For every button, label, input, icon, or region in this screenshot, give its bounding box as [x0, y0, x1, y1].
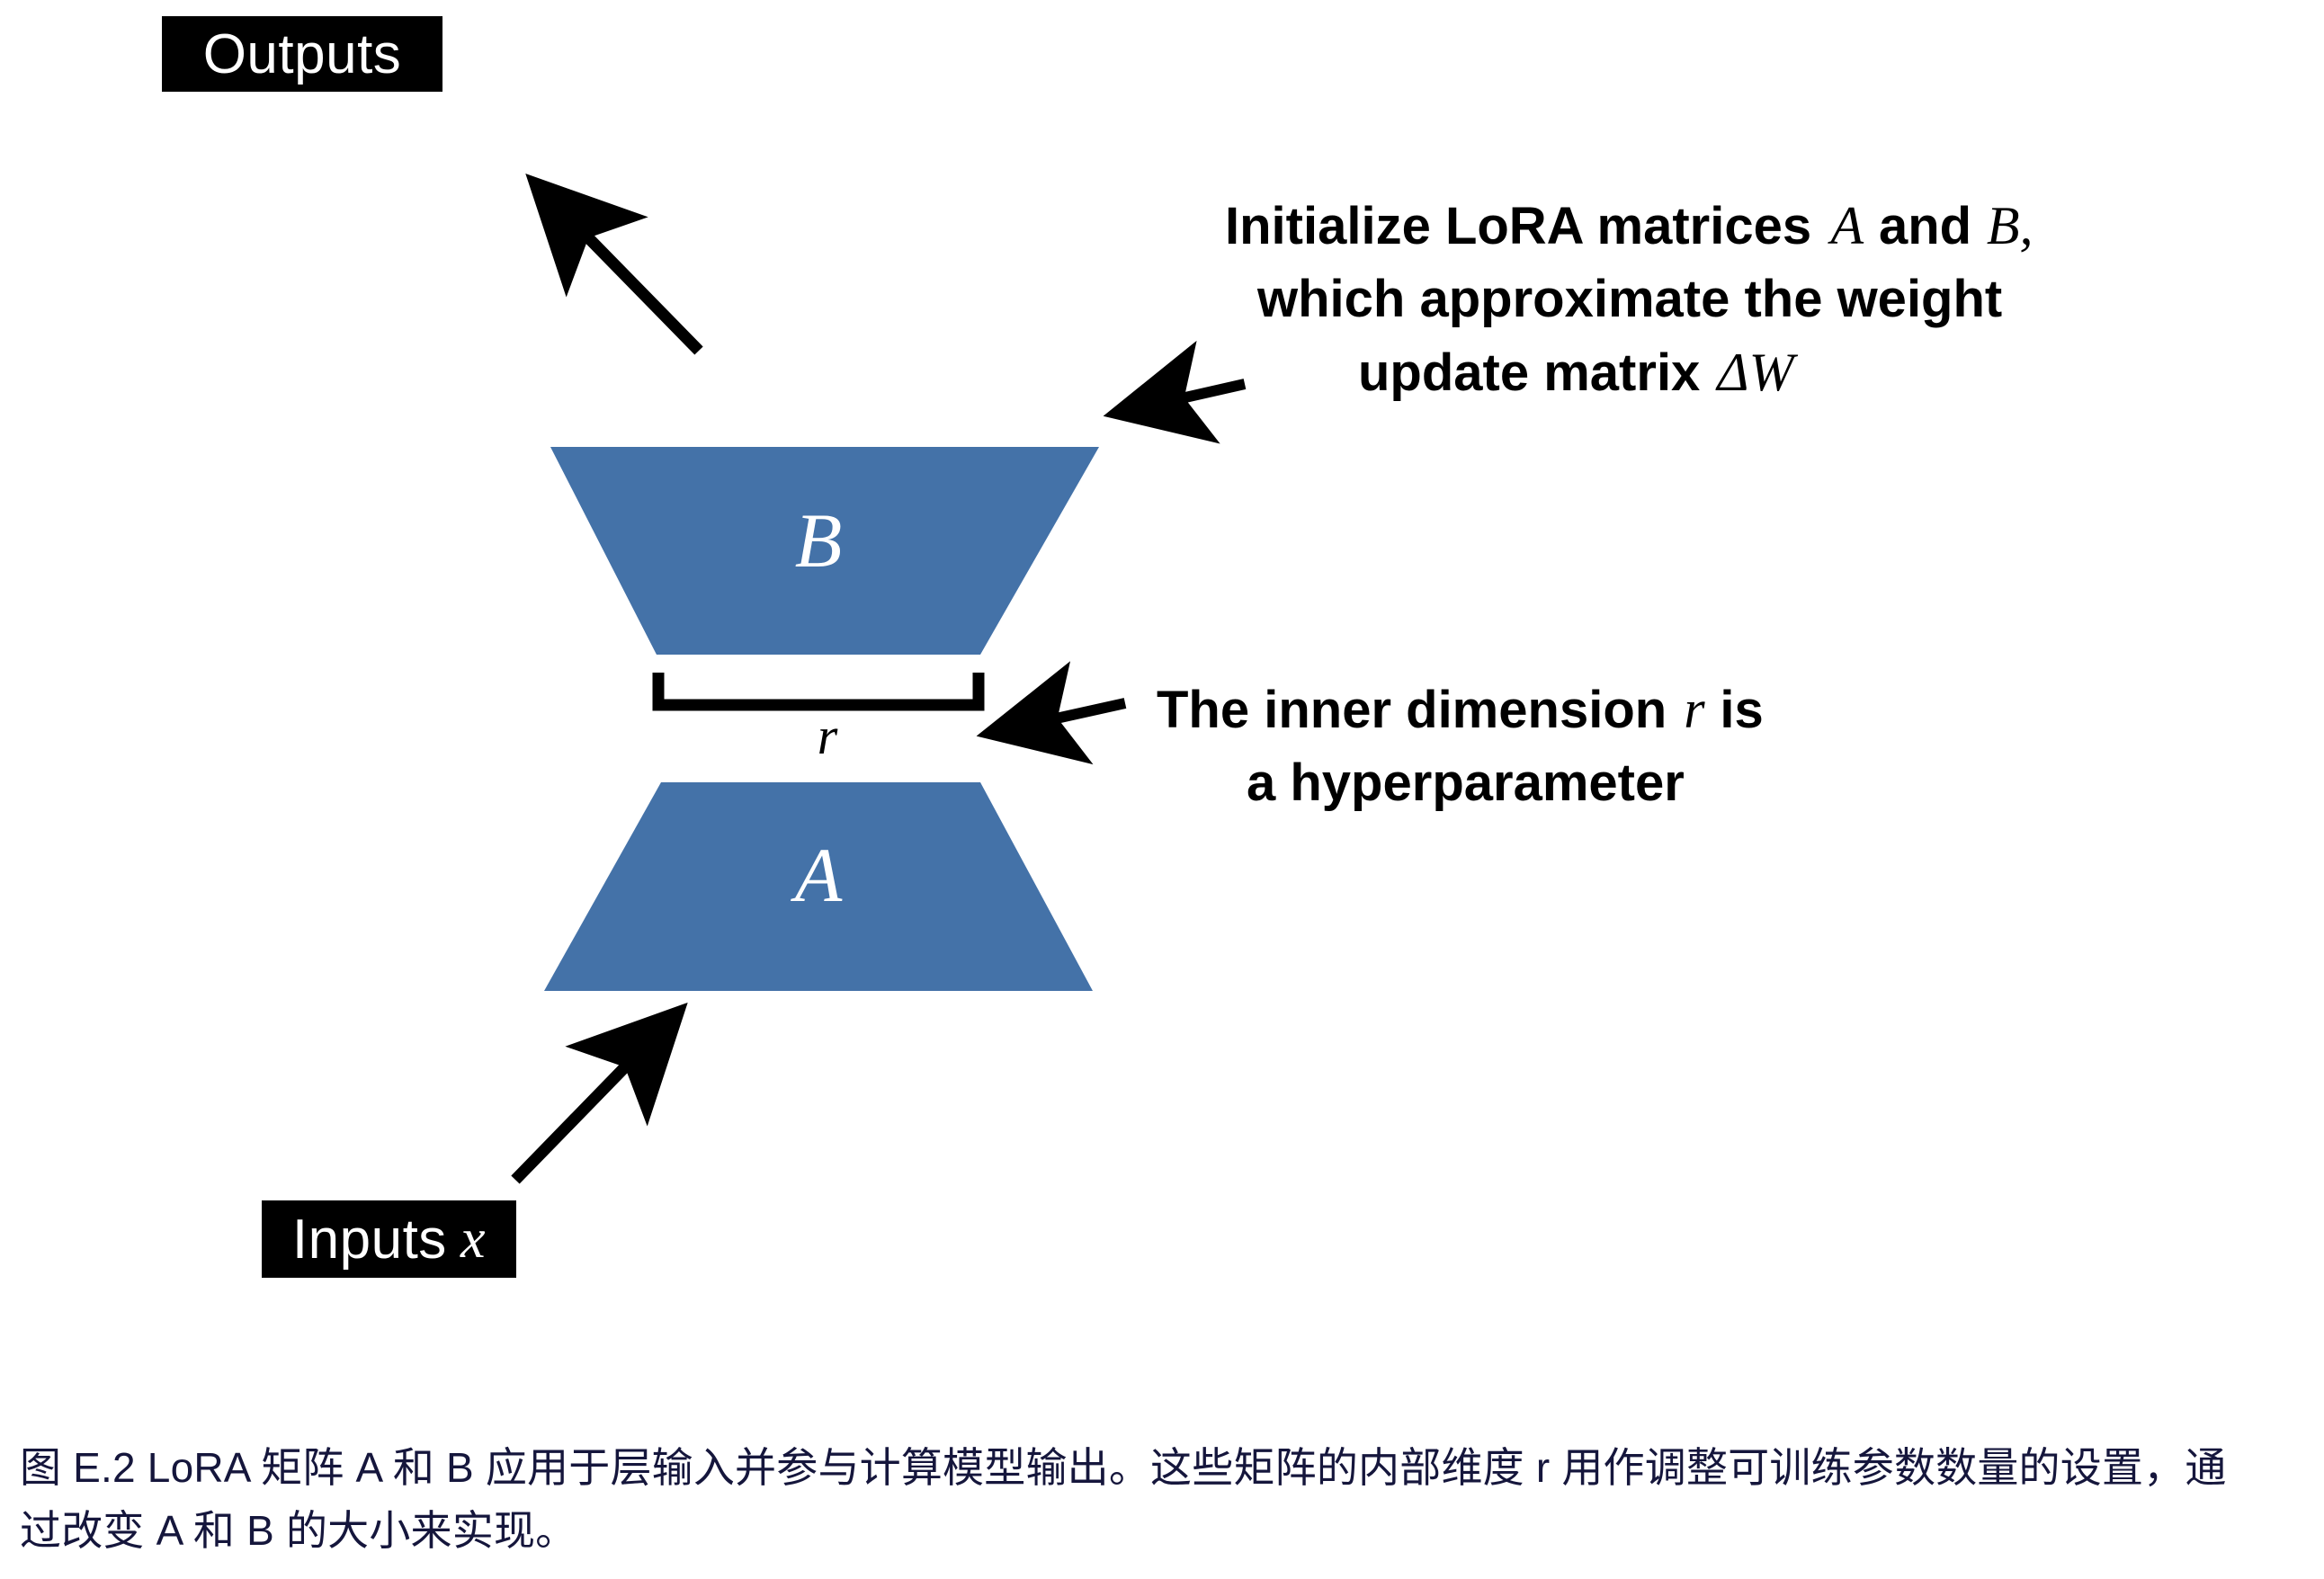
outputs-block: Outputs [162, 16, 442, 92]
matrix-a-label: A [746, 836, 890, 914]
callout-initialize-line3: update matrixΔW [1225, 335, 2036, 410]
callout-initialize-var-b: B, [1983, 196, 2037, 255]
callout-initialize-var-a: A [1828, 196, 1868, 255]
callout-rank-var-r: r [1680, 680, 1708, 739]
callout-rank-line1: The inner dimensionris [1157, 673, 1764, 747]
callout-inner-dimension: The inner dimensionris a hyperparameter [1157, 673, 1764, 819]
figure-caption-line-2: 过改变 A 和 B 的大小来实现。 [20, 1500, 2309, 1563]
callout-initialize-line1-mid: and [1867, 197, 1983, 255]
lora-diagram: Outputs Inputs x B A r Initialize LoRA m… [0, 0, 2324, 1403]
outputs-label: Outputs [203, 22, 402, 86]
inner-dimension-bracket [658, 673, 979, 705]
inputs-label: Inputs [292, 1208, 448, 1271]
callout-rank-line2: a hyperparameter [1157, 747, 1764, 819]
matrix-b-label: B [746, 502, 890, 579]
callout-initialize-line1-prefix: Initialize LoRA matrices [1225, 197, 1828, 255]
callout-initialize-line2: which approximate the weight [1225, 263, 2036, 335]
callout-initialize-line1: Initialize LoRA matricesAandB, [1225, 189, 2036, 263]
callout-initialize-delta-w: ΔW [1713, 343, 1797, 402]
arrow-input-to-a [515, 1014, 676, 1180]
arrow-callout-rank [991, 703, 1125, 733]
inputs-variable: x [460, 1208, 486, 1271]
inputs-block: Inputs x [262, 1200, 516, 1278]
arrow-b-to-output [537, 185, 699, 351]
figure-caption-line-1: 图 E.2 LoRA 矩阵 A 和 B 应用于层输入并参与计算模型输出。这些矩阵… [20, 1437, 2309, 1500]
figure-caption: 图 E.2 LoRA 矩阵 A 和 B 应用于层输入并参与计算模型输出。这些矩阵… [20, 1437, 2309, 1563]
callout-initialize-matrices: Initialize LoRA matricesAandB, which app… [1225, 189, 2036, 410]
inner-dimension-label: r [755, 710, 899, 763]
callout-initialize-line3-prefix: update matrix [1358, 343, 1713, 402]
callout-rank-line1-suffix: is [1709, 681, 1764, 739]
figure-page: Outputs Inputs x B A r Initialize LoRA m… [0, 0, 2324, 1579]
callout-rank-line1-prefix: The inner dimension [1157, 681, 1680, 739]
